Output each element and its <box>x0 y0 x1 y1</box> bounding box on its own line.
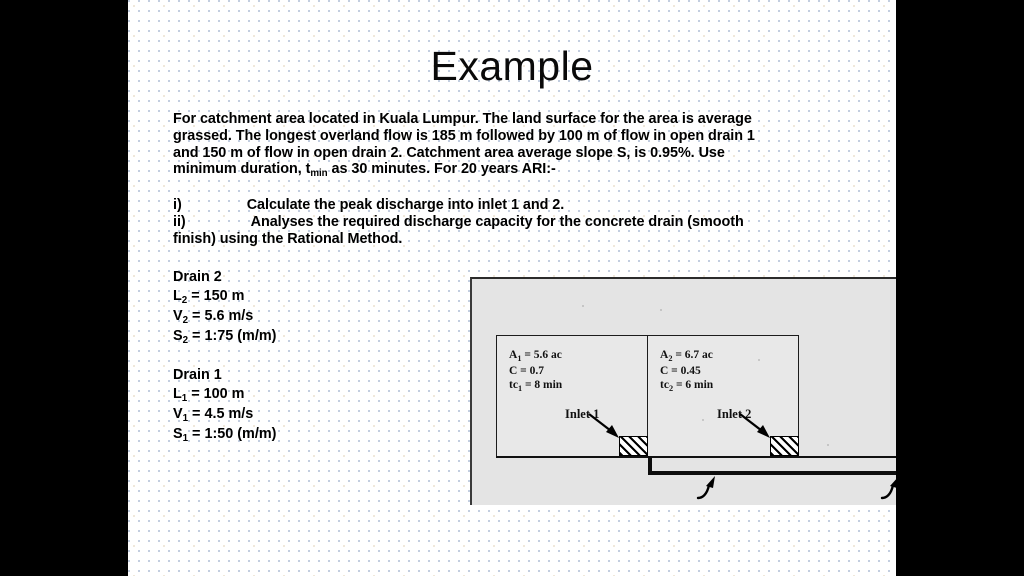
subscript: 1 <box>517 354 521 363</box>
problem-statement: For catchment area located in Kuala Lump… <box>173 111 863 248</box>
list-item: ii)Analyses the required discharge capac… <box>173 214 863 231</box>
paragraph-line-1: For catchment area located in Kuala Lump… <box>173 111 863 128</box>
scan-speckle <box>758 359 760 361</box>
list-text-ii: Analyses the required discharge capacity… <box>251 214 744 230</box>
drain2-row-L: L2 = 150 m <box>173 287 276 307</box>
list-item: i)Calculate the peak discharge into inle… <box>173 197 863 214</box>
letterbox-bar-left <box>0 0 128 576</box>
value: = 5.6 m/s <box>188 308 253 324</box>
scan-speckle <box>702 419 704 421</box>
list-text-ii-wrap: finish) using the Rational Method. <box>173 231 863 248</box>
scan-speckle <box>660 309 662 311</box>
drain2-group: Drain 2 L2 = 150 m V2 = 5.6 m/s S2 = 1:7… <box>173 268 276 347</box>
scan-speckle <box>582 305 584 307</box>
tmin-post: as 30 minutes. For 20 years ARI:- <box>328 161 556 177</box>
runoff-coeff-1: C = 0.7 <box>509 364 562 379</box>
symbol: L <box>173 386 182 402</box>
symbol: V <box>173 308 183 324</box>
flow-direction-arrow-icon <box>696 475 726 501</box>
drain1-group: Drain 1 L1 = 100 m V1 = 4.5 m/s S1 = 1:5… <box>173 366 276 445</box>
drain1-row-V: V1 = 4.5 m/s <box>173 405 276 425</box>
slide-content-area: Example For catchment area located in Ku… <box>128 0 896 576</box>
tmin-subscript: min <box>310 168 327 179</box>
symbol: S <box>173 426 183 442</box>
catchment-1-labels: A1 = 5.6 ac C = 0.7 tc1 = 8 min <box>509 348 562 394</box>
symbol: V <box>173 406 183 422</box>
subscript: 1 <box>183 433 188 444</box>
value: = 5.6 ac <box>521 349 561 361</box>
area-1-line: A1 = 5.6 ac <box>509 348 562 364</box>
drain1-row-L: L1 = 100 m <box>173 385 276 405</box>
subscript: 2 <box>668 354 672 363</box>
symbol: L <box>173 288 182 304</box>
subscript: 2 <box>183 335 188 346</box>
subscript: 2 <box>669 384 673 393</box>
value: = 4.5 m/s <box>188 406 253 422</box>
subscript: 1 <box>182 393 187 404</box>
tmin-pre: minimum duration, t <box>173 161 310 177</box>
inlet-2-grate <box>770 436 799 456</box>
drain1-heading: Drain 1 <box>173 366 276 385</box>
paragraph-line-3: and 150 m of flow in open drain 2. Catch… <box>173 145 863 162</box>
value: = 6 min <box>673 379 713 391</box>
runoff-coeff-2: C = 0.45 <box>660 364 713 379</box>
paragraph-line-4: minimum duration, tmin as 30 minutes. Fo… <box>173 161 863 180</box>
subscript: 1 <box>183 413 188 424</box>
symbol: S <box>173 328 183 344</box>
value: = 1:50 (m/m) <box>188 426 276 442</box>
value: = 8 min <box>522 379 562 391</box>
scan-speckle <box>827 444 829 446</box>
list-text-i: Calculate the peak discharge into inlet … <box>247 197 564 213</box>
spacer <box>173 347 276 366</box>
value: = 1:75 (m/m) <box>188 328 276 344</box>
drain1-row-S: S1 = 1:50 (m/m) <box>173 425 276 445</box>
drain2-row-V: V2 = 5.6 m/s <box>173 307 276 327</box>
drain-parameters: Drain 2 L2 = 150 m V2 = 5.6 m/s S2 = 1:7… <box>173 268 276 445</box>
paragraph-line-2: grassed. The longest overland flow is 18… <box>173 128 863 145</box>
area-2-line: A2 = 6.7 ac <box>660 348 713 364</box>
subscript: 2 <box>182 295 187 306</box>
symbol: tc <box>660 379 669 391</box>
tc-2-line: tc2 = 6 min <box>660 378 713 394</box>
value: = 100 m <box>187 386 244 402</box>
inlet-1-grate <box>619 436 648 456</box>
slide: Example For catchment area located in Ku… <box>0 0 1024 576</box>
question-list: i)Calculate the peak discharge into inle… <box>173 197 863 247</box>
catchment-2-labels: A2 = 6.7 ac C = 0.45 tc2 = 6 min <box>660 348 713 394</box>
drain2-heading: Drain 2 <box>173 268 276 287</box>
value: = 150 m <box>187 288 244 304</box>
value: = 6.7 ac <box>672 349 712 361</box>
subscript: 1 <box>518 384 522 393</box>
drain2-row-S: S2 = 1:75 (m/m) <box>173 327 276 347</box>
symbol: tc <box>509 379 518 391</box>
list-marker-ii: ii) <box>173 214 186 230</box>
letterbox-bar-right <box>896 0 1024 576</box>
list-marker-i: i) <box>173 197 182 213</box>
tc-1-line: tc1 = 8 min <box>509 378 562 394</box>
subscript: 2 <box>183 315 188 326</box>
page-title: Example <box>128 44 896 89</box>
